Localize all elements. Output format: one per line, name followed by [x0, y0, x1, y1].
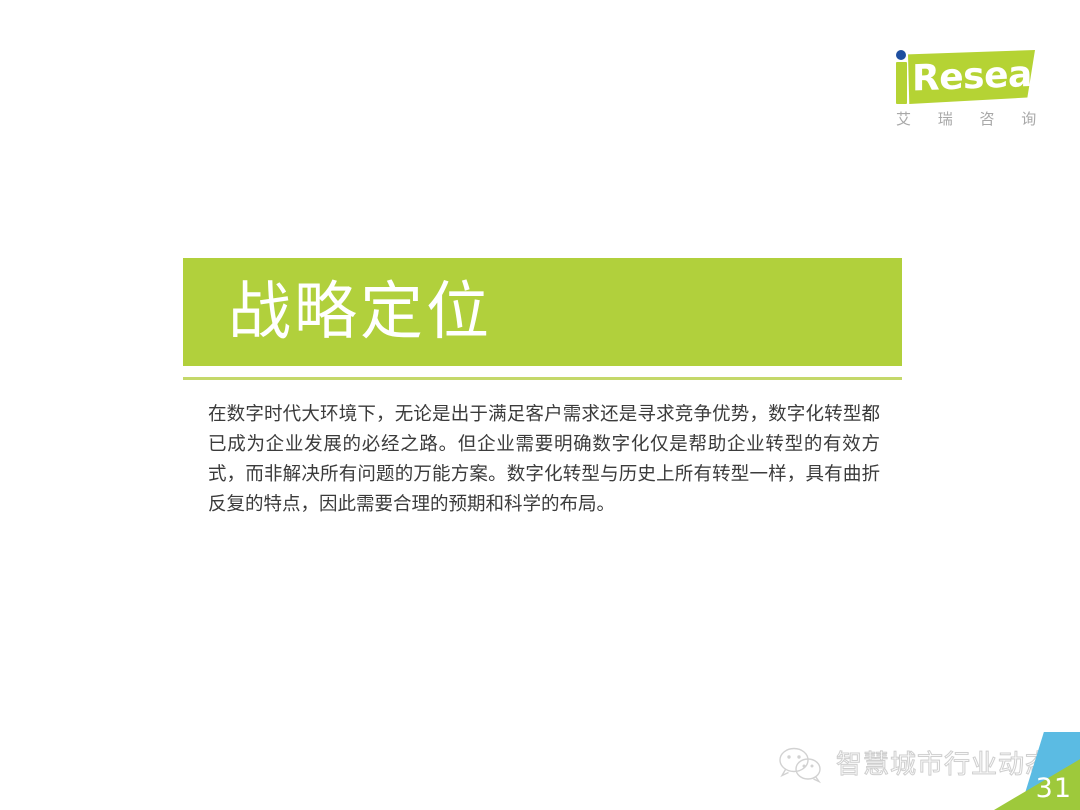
logo-i-dot-icon	[896, 50, 906, 60]
wechat-icon	[778, 746, 824, 784]
page-number: 31	[1036, 774, 1072, 804]
logo-wordmark: Research	[912, 51, 1080, 100]
logo-subtitle: 艾 瑞 咨 询	[896, 108, 1035, 129]
body-paragraph: 在数字时代大环境下，无论是出于满足客户需求还是寻求竞争优势，数字化转型都已成为企…	[208, 400, 880, 520]
iresearch-logo: Research 艾 瑞 咨 询	[880, 48, 1035, 138]
slide-page: Research 艾 瑞 咨 询 战略定位 在数字时代大环境下，无论是出于满足客…	[0, 0, 1080, 810]
logo-i-stem	[896, 62, 907, 104]
corner-decoration: 31	[994, 732, 1080, 810]
title-divider-rule	[183, 377, 902, 380]
page-title: 战略定位	[228, 267, 492, 357]
logo-mark: Research	[880, 48, 1035, 106]
section-title-banner: 战略定位	[183, 258, 902, 366]
